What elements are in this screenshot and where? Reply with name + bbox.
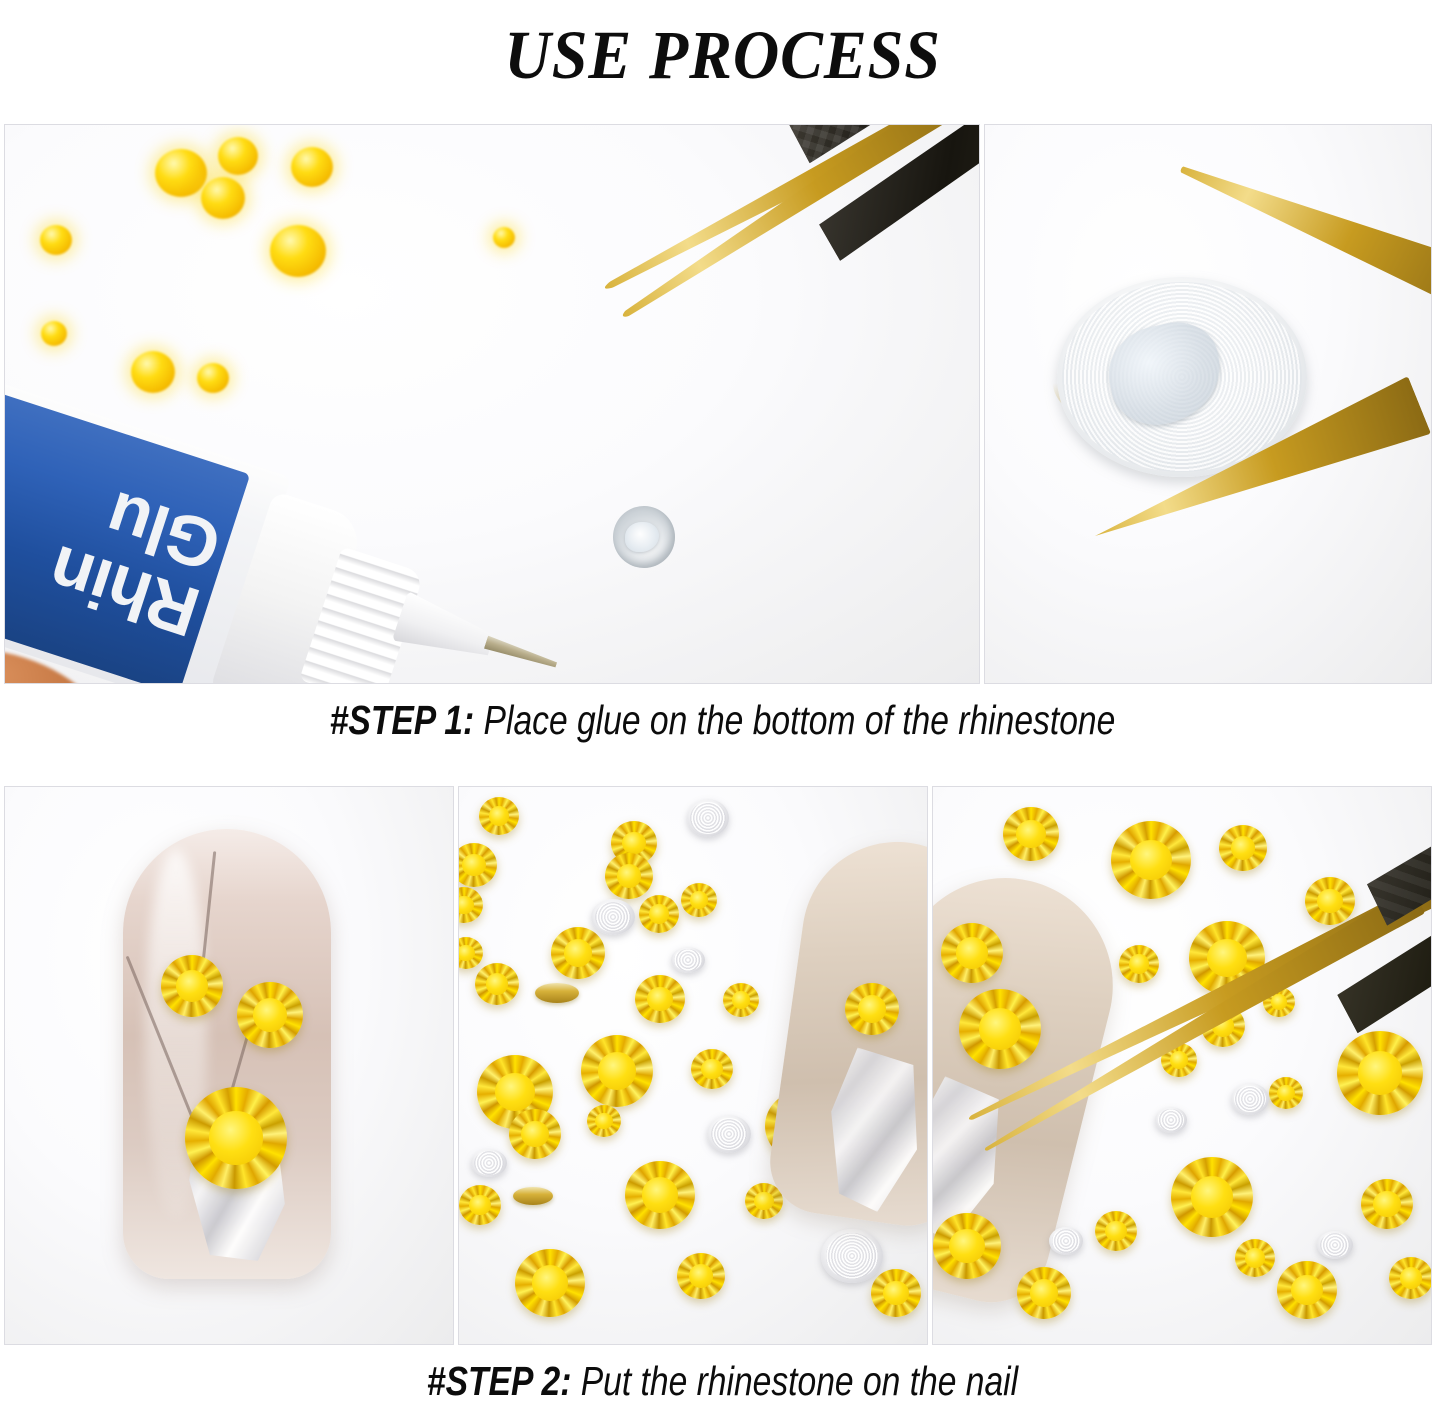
loose-rhinestone [1111,821,1191,899]
loose-rhinestone [1269,1077,1303,1109]
rhinestone-bead [131,351,175,393]
loose-rhinestone [723,983,759,1017]
loose-rhinestone [1017,1267,1071,1319]
glue-application-photo: Rhin Glu [4,124,980,684]
loose-rhinestone [1389,1257,1432,1299]
rhinestone-bead [155,149,207,197]
rhinestone-bead [197,363,229,393]
rhinestone-flat-back-up [1317,1231,1353,1259]
loose-rhinestone [1219,825,1267,871]
loose-rhinestone [475,963,519,1005]
nail-rhinestone-large [185,1087,287,1189]
loose-rhinestone [581,1035,653,1107]
placed-rhinestone [959,989,1041,1069]
rhinestone-flat-back-up [671,947,705,973]
loose-rhinestones-photo [458,786,928,1345]
rhinestone-bead [201,177,245,219]
placing-rhinestone-photo [932,786,1432,1345]
rhinestone-bead [291,147,333,187]
step-1-text: Place glue on the bottom of the rhinesto… [474,697,1115,743]
rhinestone-bead [270,225,326,277]
nail-silver-foil [816,1045,928,1217]
nail-rhinestone-medium [237,982,303,1048]
page-header: USE PROCESS [0,0,1445,110]
nail-rhinestone [845,983,899,1035]
rhinestone-bead [218,137,258,175]
loose-rhinestone [1235,1239,1275,1277]
loose-rhinestone [587,1105,621,1137]
step-2-image-row [4,786,1432,1345]
loose-rhinestone [459,1185,501,1225]
nail-rhinestone-small [161,955,223,1017]
step-2-label: #STEP 2: [427,1358,571,1404]
loose-rhinestone [515,1249,585,1317]
loose-rhinestone [625,1161,695,1229]
loose-rhinestone [941,923,1003,983]
loose-rhinestone [509,1109,561,1159]
decorated-nail [123,829,331,1279]
loose-rhinestone [1277,1261,1337,1319]
loose-rhinestone [691,1049,733,1089]
loose-rhinestone [1337,1031,1423,1115]
rhinestone-flat-back-up [687,799,729,837]
loose-rhinestone [677,1253,725,1299]
loose-rhinestone [871,1269,921,1317]
loose-rhinestone [551,927,605,979]
page-title: USE PROCESS [504,21,940,90]
loose-rhinestone [1305,877,1355,925]
step-1-image-row: Rhin Glu [4,124,1432,684]
step-2-caption: #STEP 2: Put the rhinestone on the nail [130,1358,1315,1405]
loose-rhinestone [605,853,653,899]
rhinestone-flat-back-up [591,899,635,935]
step-2-text: Put the rhinestone on the nail [571,1358,1018,1404]
loose-rhinestone [1003,807,1059,861]
step-1-caption: #STEP 1: Place glue on the bottom of the… [130,697,1315,744]
rhinestone-flat-back-up [1231,1083,1269,1115]
rhinestone-with-glue [613,506,675,568]
rhinestone-bead [41,321,67,346]
rhinestone-bead [493,227,515,248]
rhinestone-closeup-photo [984,124,1432,684]
loose-rhinestone [479,797,519,835]
rhinestone-bead [40,225,72,255]
loose-rhinestone [1095,1211,1137,1251]
loose-rhinestone [635,975,685,1023]
loose-rhinestone [1171,1157,1253,1237]
nail-marble-line [201,851,217,971]
rhinestone-flat-back-up [1049,1227,1083,1255]
loose-rhinestone [933,1213,1001,1279]
loose-rhinestone [1361,1179,1413,1229]
loose-rhinestone [1119,945,1159,983]
finished-nail-photo [4,786,454,1345]
loose-rhinestone [681,883,717,917]
rhinestone-side-view [535,983,579,1003]
rhinestone-flat-back-up [471,1149,507,1177]
loose-rhinestone [639,895,679,933]
step-1-label: #STEP 1: [330,697,474,743]
rhinestone-flat-back-up [1155,1107,1187,1133]
rhinestone-flat-back-up [707,1115,751,1153]
rhinestone-side-view [513,1187,553,1205]
rhinestone-flat-back-up [821,1229,883,1283]
